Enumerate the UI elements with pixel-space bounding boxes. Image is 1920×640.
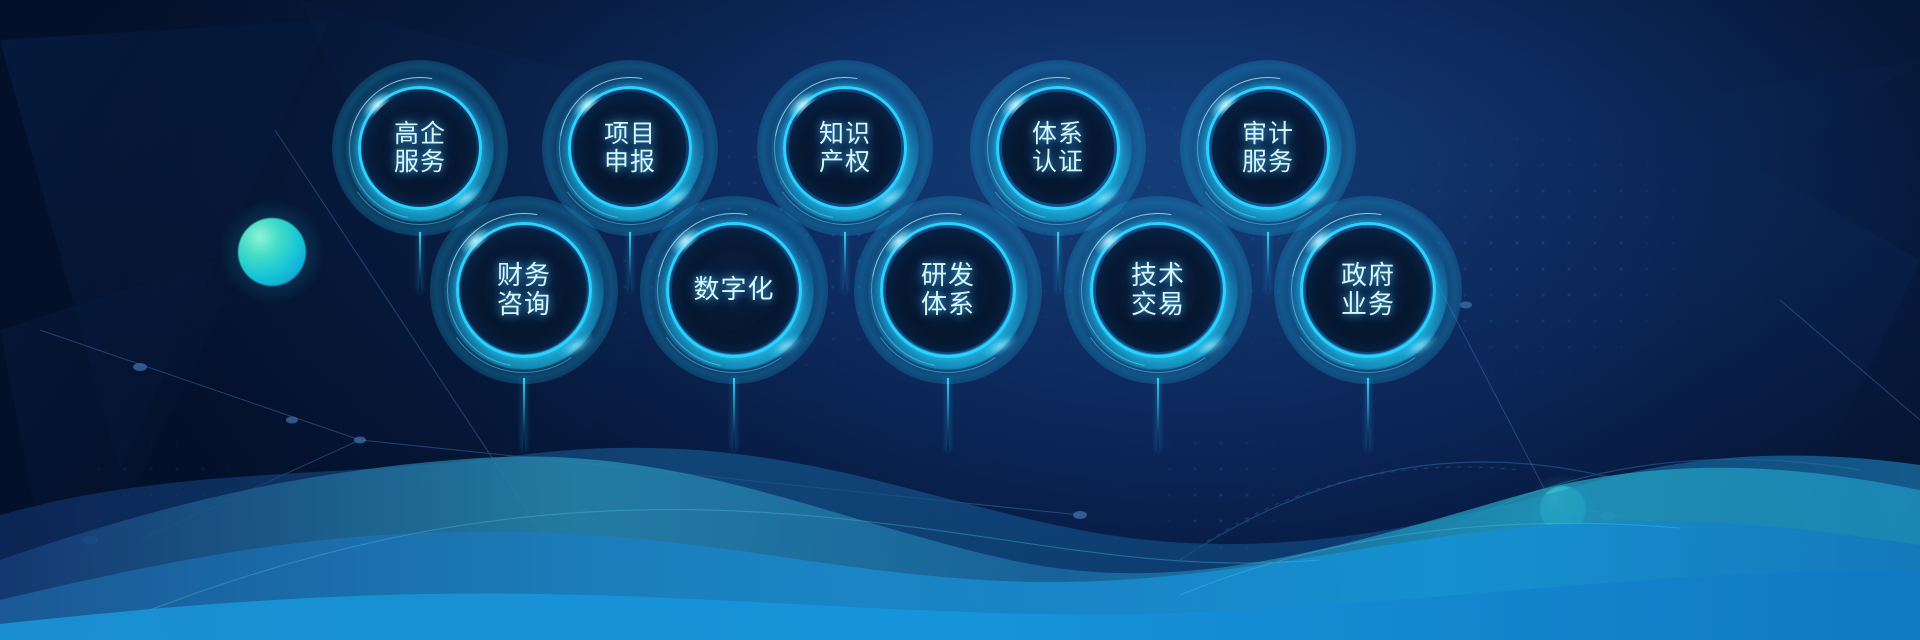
node-disc: 知识 产权 xyxy=(789,92,901,204)
node-disc: 项目 申报 xyxy=(574,92,686,204)
node-disc: 政府 业务 xyxy=(1306,228,1430,352)
service-node-jishu-jiaoyi[interactable]: 技术 交易 xyxy=(1078,210,1238,370)
node-disc: 高企 服务 xyxy=(364,92,476,204)
node-label-caiwu-zixun: 财务 咨询 xyxy=(497,261,551,319)
node-disc: 技术 交易 xyxy=(1096,228,1220,352)
node-label-zhengfu-yewu: 政府 业务 xyxy=(1341,261,1395,319)
node-disc: 审计 服务 xyxy=(1212,92,1324,204)
node-label-xiangmu-shenbao: 项目 申报 xyxy=(604,120,656,176)
node-label-jishu-jiaoyi: 技术 交易 xyxy=(1131,261,1185,319)
node-label-gaoqi-fuwu: 高企 服务 xyxy=(394,120,446,176)
service-node-gaoqi-fuwu[interactable]: 高企 服务 xyxy=(346,74,494,222)
service-node-caiwu-zixun[interactable]: 财务 咨询 xyxy=(444,210,604,370)
node-label-tixi-renzheng: 体系 认证 xyxy=(1032,120,1084,176)
sphere-core xyxy=(238,218,306,286)
service-node-yanfa-tixi[interactable]: 研发 体系 xyxy=(868,210,1028,370)
connector-line xyxy=(1057,232,1059,292)
service-node-shenji-fuwu[interactable]: 审计 服务 xyxy=(1194,74,1342,222)
service-node-xiangmu-shenbao[interactable]: 项目 申报 xyxy=(556,74,704,222)
service-node-tixi-renzheng[interactable]: 体系 认证 xyxy=(984,74,1132,222)
node-label-yanfa-tixi: 研发 体系 xyxy=(921,261,975,319)
service-node-zhengfu-yewu[interactable]: 政府 业务 xyxy=(1288,210,1448,370)
node-disc: 财务 咨询 xyxy=(462,228,586,352)
connector-line xyxy=(1267,232,1269,292)
connector-line xyxy=(419,232,421,292)
connector-line xyxy=(844,232,846,292)
node-label-shuzihua: 数字化 xyxy=(693,275,774,304)
service-node-shuzihua[interactable]: 数字化 xyxy=(654,210,814,370)
service-banner: 高企 服务项目 申报知识 产权体系 认证审计 服务财务 咨询数字化研发 体系技术… xyxy=(0,0,1920,640)
node-disc: 体系 认证 xyxy=(1002,92,1114,204)
connector-line xyxy=(629,232,631,292)
glow-sphere-large xyxy=(238,218,306,286)
node-disc: 数字化 xyxy=(672,228,796,352)
wave-band xyxy=(0,410,1920,640)
node-label-shenji-fuwu: 审计 服务 xyxy=(1242,120,1294,176)
node-label-zhishi-chanquan: 知识 产权 xyxy=(819,120,871,176)
service-node-zhishi-chanquan[interactable]: 知识 产权 xyxy=(771,74,919,222)
node-disc: 研发 体系 xyxy=(886,228,1010,352)
